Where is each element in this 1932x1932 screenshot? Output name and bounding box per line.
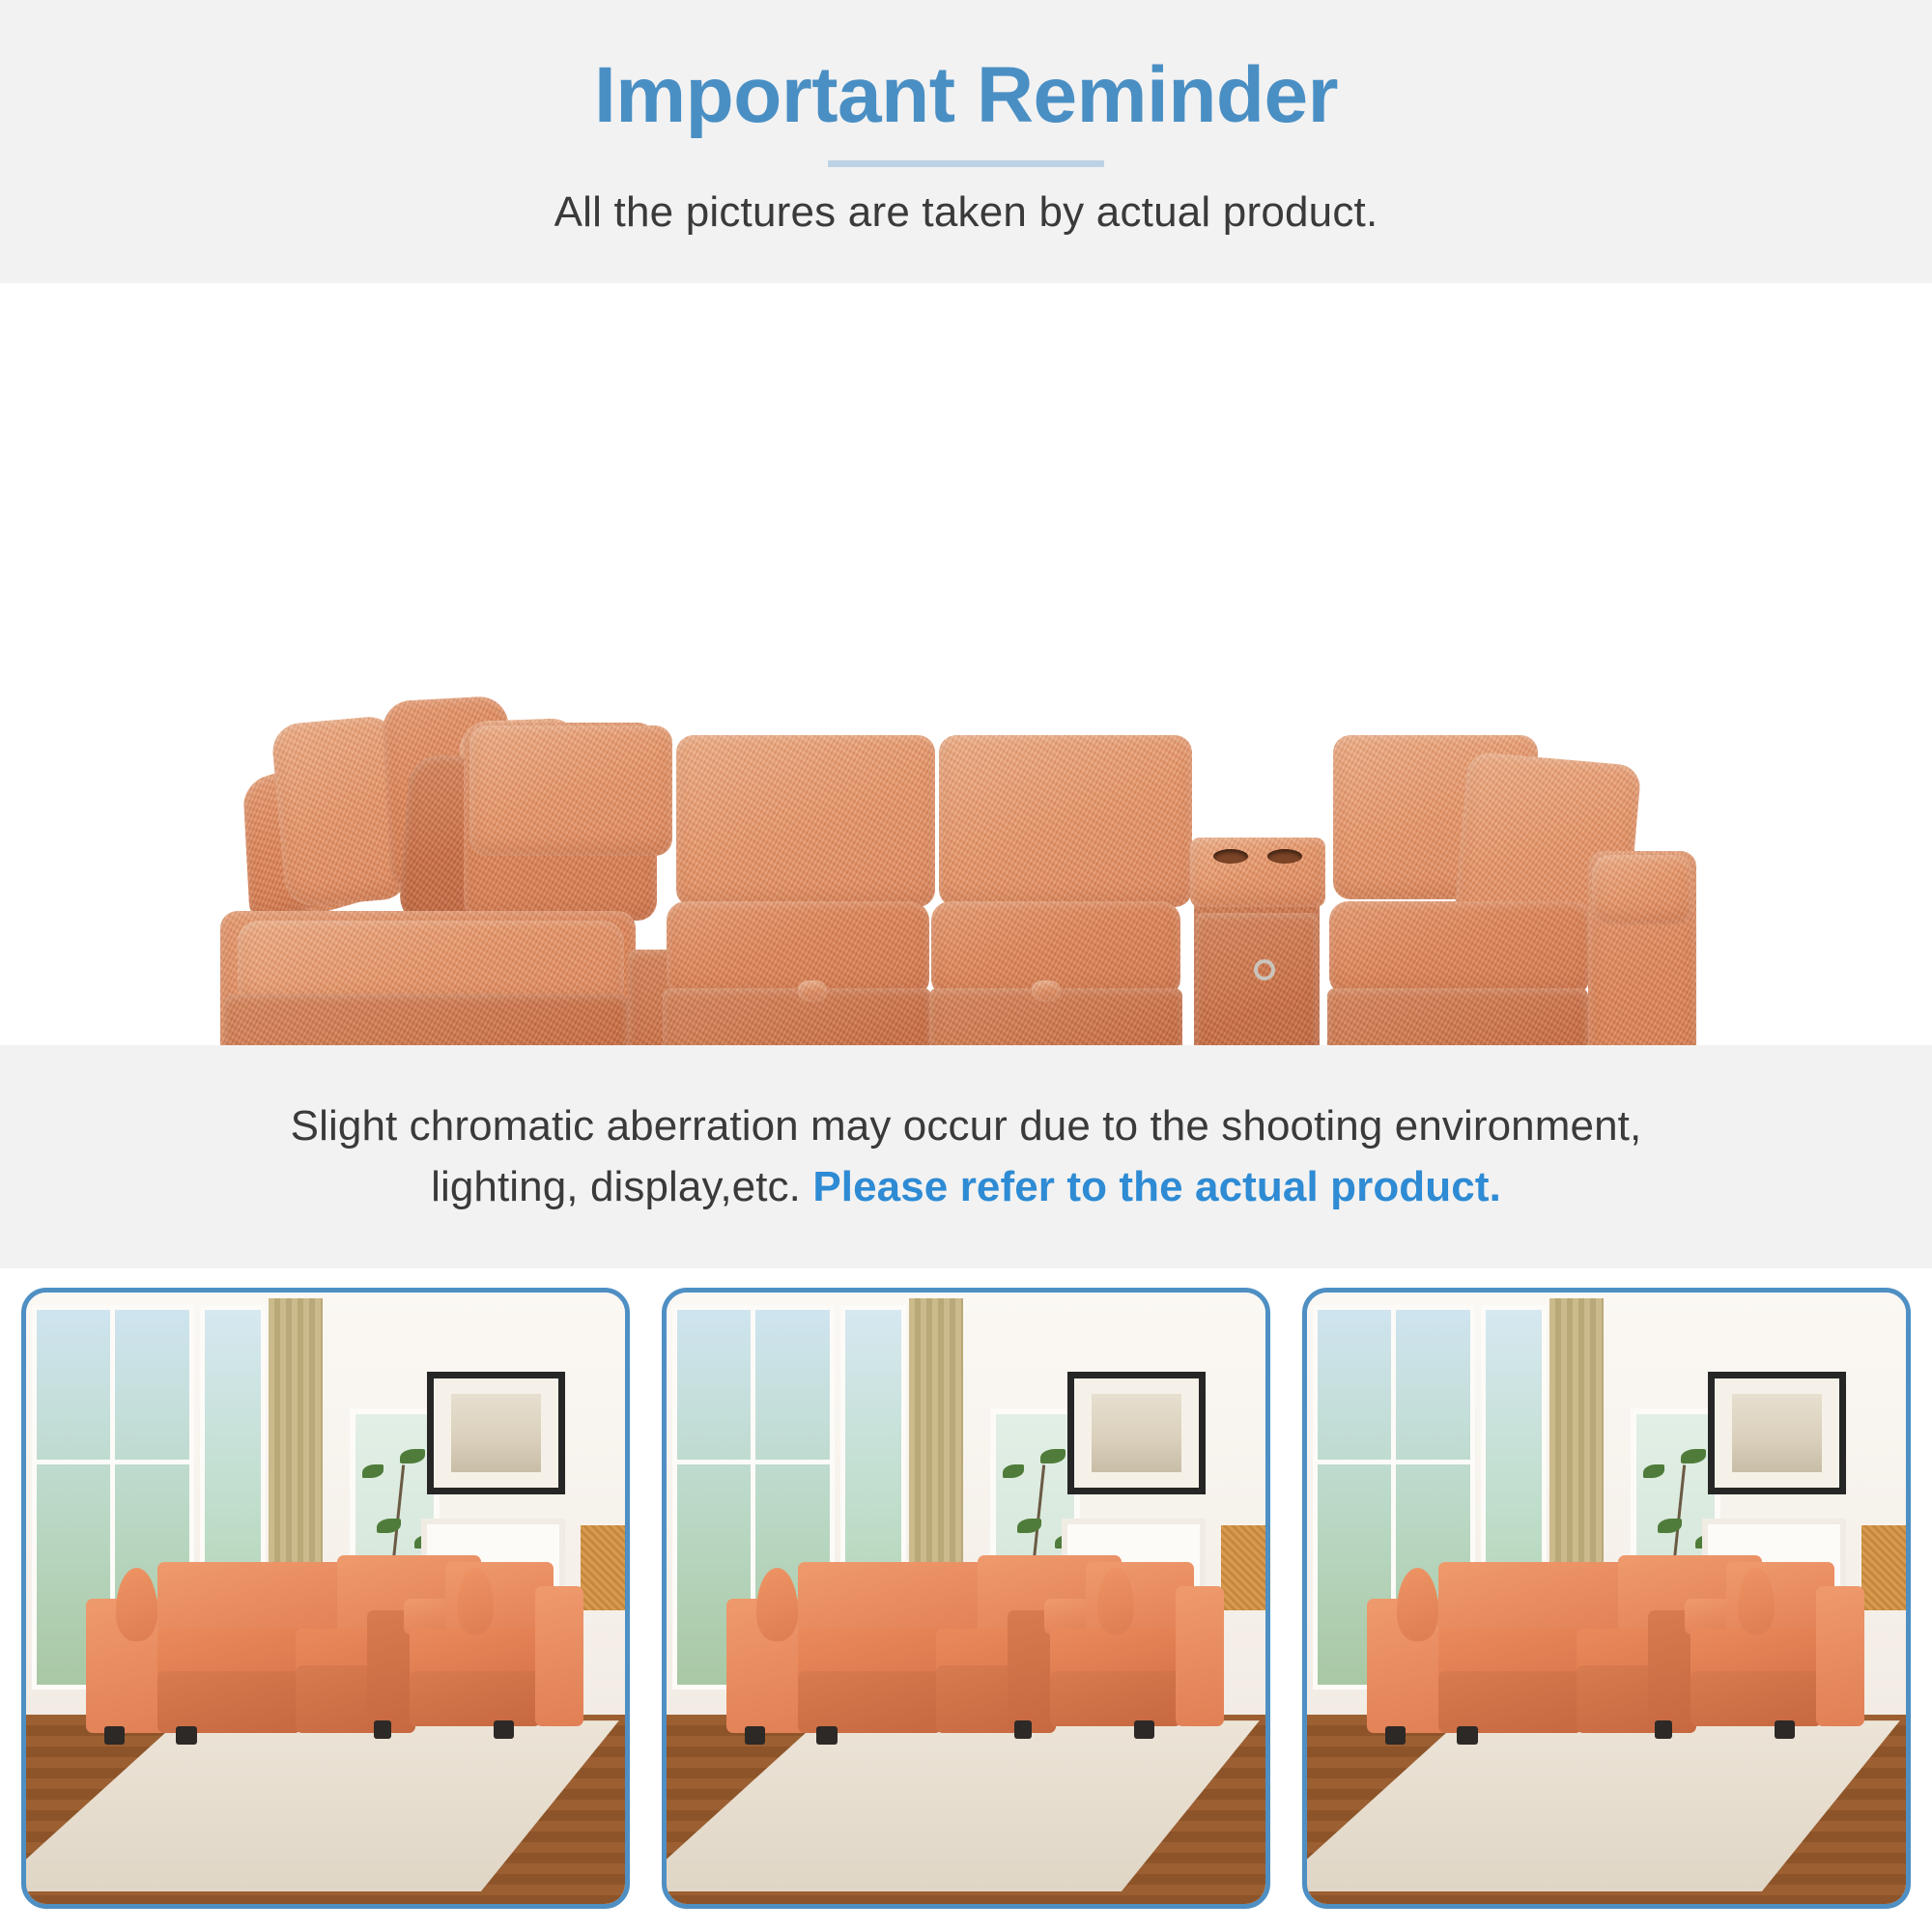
title-divider [828,160,1104,167]
sofa-right-arm-top [1592,855,1692,924]
plant-leaf [1643,1464,1664,1478]
mini-sofa-leg [494,1720,515,1739]
mini-sofa-leg [1014,1720,1033,1739]
storage-pull-tab-2[interactable] [1032,980,1061,1002]
wall-art-frame [427,1372,565,1494]
thumbnail-living-room-scene-2[interactable] [662,1288,1270,1909]
mini-sofa-right-arm [1816,1586,1864,1727]
reminder-banner: Important Reminder All the pictures are … [0,0,1932,283]
sofa-back-cushion-1 [469,725,672,856]
cup-holder-right [1267,849,1302,864]
wall-art-canvas [1732,1394,1822,1472]
wall-art-canvas [451,1394,541,1472]
mini-sofa-leg [176,1726,197,1745]
disclaimer-banner: Slight chromatic aberration may occur du… [0,1045,1932,1268]
mini-sofa-base-left [157,1671,301,1732]
sofa-right-seat-cushion [1329,901,1590,996]
page-subtitle: All the pictures are taken by actual pro… [554,188,1378,237]
mini-sofa-right-arm [1176,1586,1224,1727]
disclaimer-line-1: Slight chromatic aberration may occur du… [291,1102,1642,1150]
sofa-seat-cushion-1 [667,901,929,998]
plant-leaf [400,1449,425,1463]
sofa-left-arm-top [238,921,624,1006]
mini-sofa-leg [1457,1726,1478,1745]
mini-sofa-base-left [1438,1671,1582,1732]
sofa-left-arm-face [224,994,628,1045]
mini-sofa-leg [104,1726,126,1745]
plant-leaf [362,1464,384,1478]
plant-leaf [1003,1464,1024,1478]
mini-sofa-leg [374,1720,392,1739]
mini-sofa-right-base [410,1671,541,1726]
page-title: Important Reminder [594,54,1338,137]
mini-sofa-leg [1655,1720,1673,1739]
rattan-panel [1221,1525,1269,1611]
sofa-right-storage-front [1327,988,1588,1045]
room-scene [1307,1293,1906,1904]
mini-sofa-leg [816,1726,838,1745]
rattan-panel [1861,1525,1910,1611]
rattan-panel [581,1525,629,1611]
sofa-back-cushion-2 [676,735,935,907]
wall-art-canvas [1092,1394,1181,1472]
room-scene [667,1293,1265,1904]
thumbnail-living-room-scene-3[interactable] [1302,1288,1911,1909]
room-scene [26,1293,625,1904]
storage-pull-tab-1[interactable] [798,980,827,1002]
mini-sofa-base-left [798,1671,942,1732]
mini-sofa-leg [745,1726,766,1745]
console-top [1190,838,1325,907]
mini-sofa-leg [1134,1720,1155,1739]
wall-art-frame [1067,1372,1206,1494]
wall-art-frame [1708,1372,1846,1494]
disclaimer-line-2-accent: Please refer to the actual product. [812,1163,1501,1210]
mini-sofa-right-arm [535,1586,583,1727]
thumbnail-gallery [0,1268,1932,1932]
mini-sofa-leg [1775,1720,1796,1739]
product-detail-page: Important Reminder All the pictures are … [0,0,1932,1932]
plant-leaf [1681,1449,1706,1463]
disclaimer-line-2-plain: lighting, display,etc. [431,1163,812,1210]
sofa-back-cushion-3 [939,735,1192,907]
console-ring-pull-icon[interactable] [1254,959,1275,980]
sofa-storage-front-1 [663,988,931,1045]
disclaimer-text: Slight chromatic aberration may occur du… [291,1096,1642,1217]
cup-holder-left [1213,849,1248,864]
mini-sofa-right-base [1050,1671,1181,1726]
mini-sofa-leg [1385,1726,1406,1745]
hero-product-image [0,283,1932,1045]
sofa-illustration [0,283,1932,1045]
mini-sofa-right-base [1690,1671,1822,1726]
plant-leaf [1040,1449,1065,1463]
console-storage-door[interactable] [1196,913,1318,1045]
thumbnail-living-room-scene-1[interactable] [21,1288,630,1909]
